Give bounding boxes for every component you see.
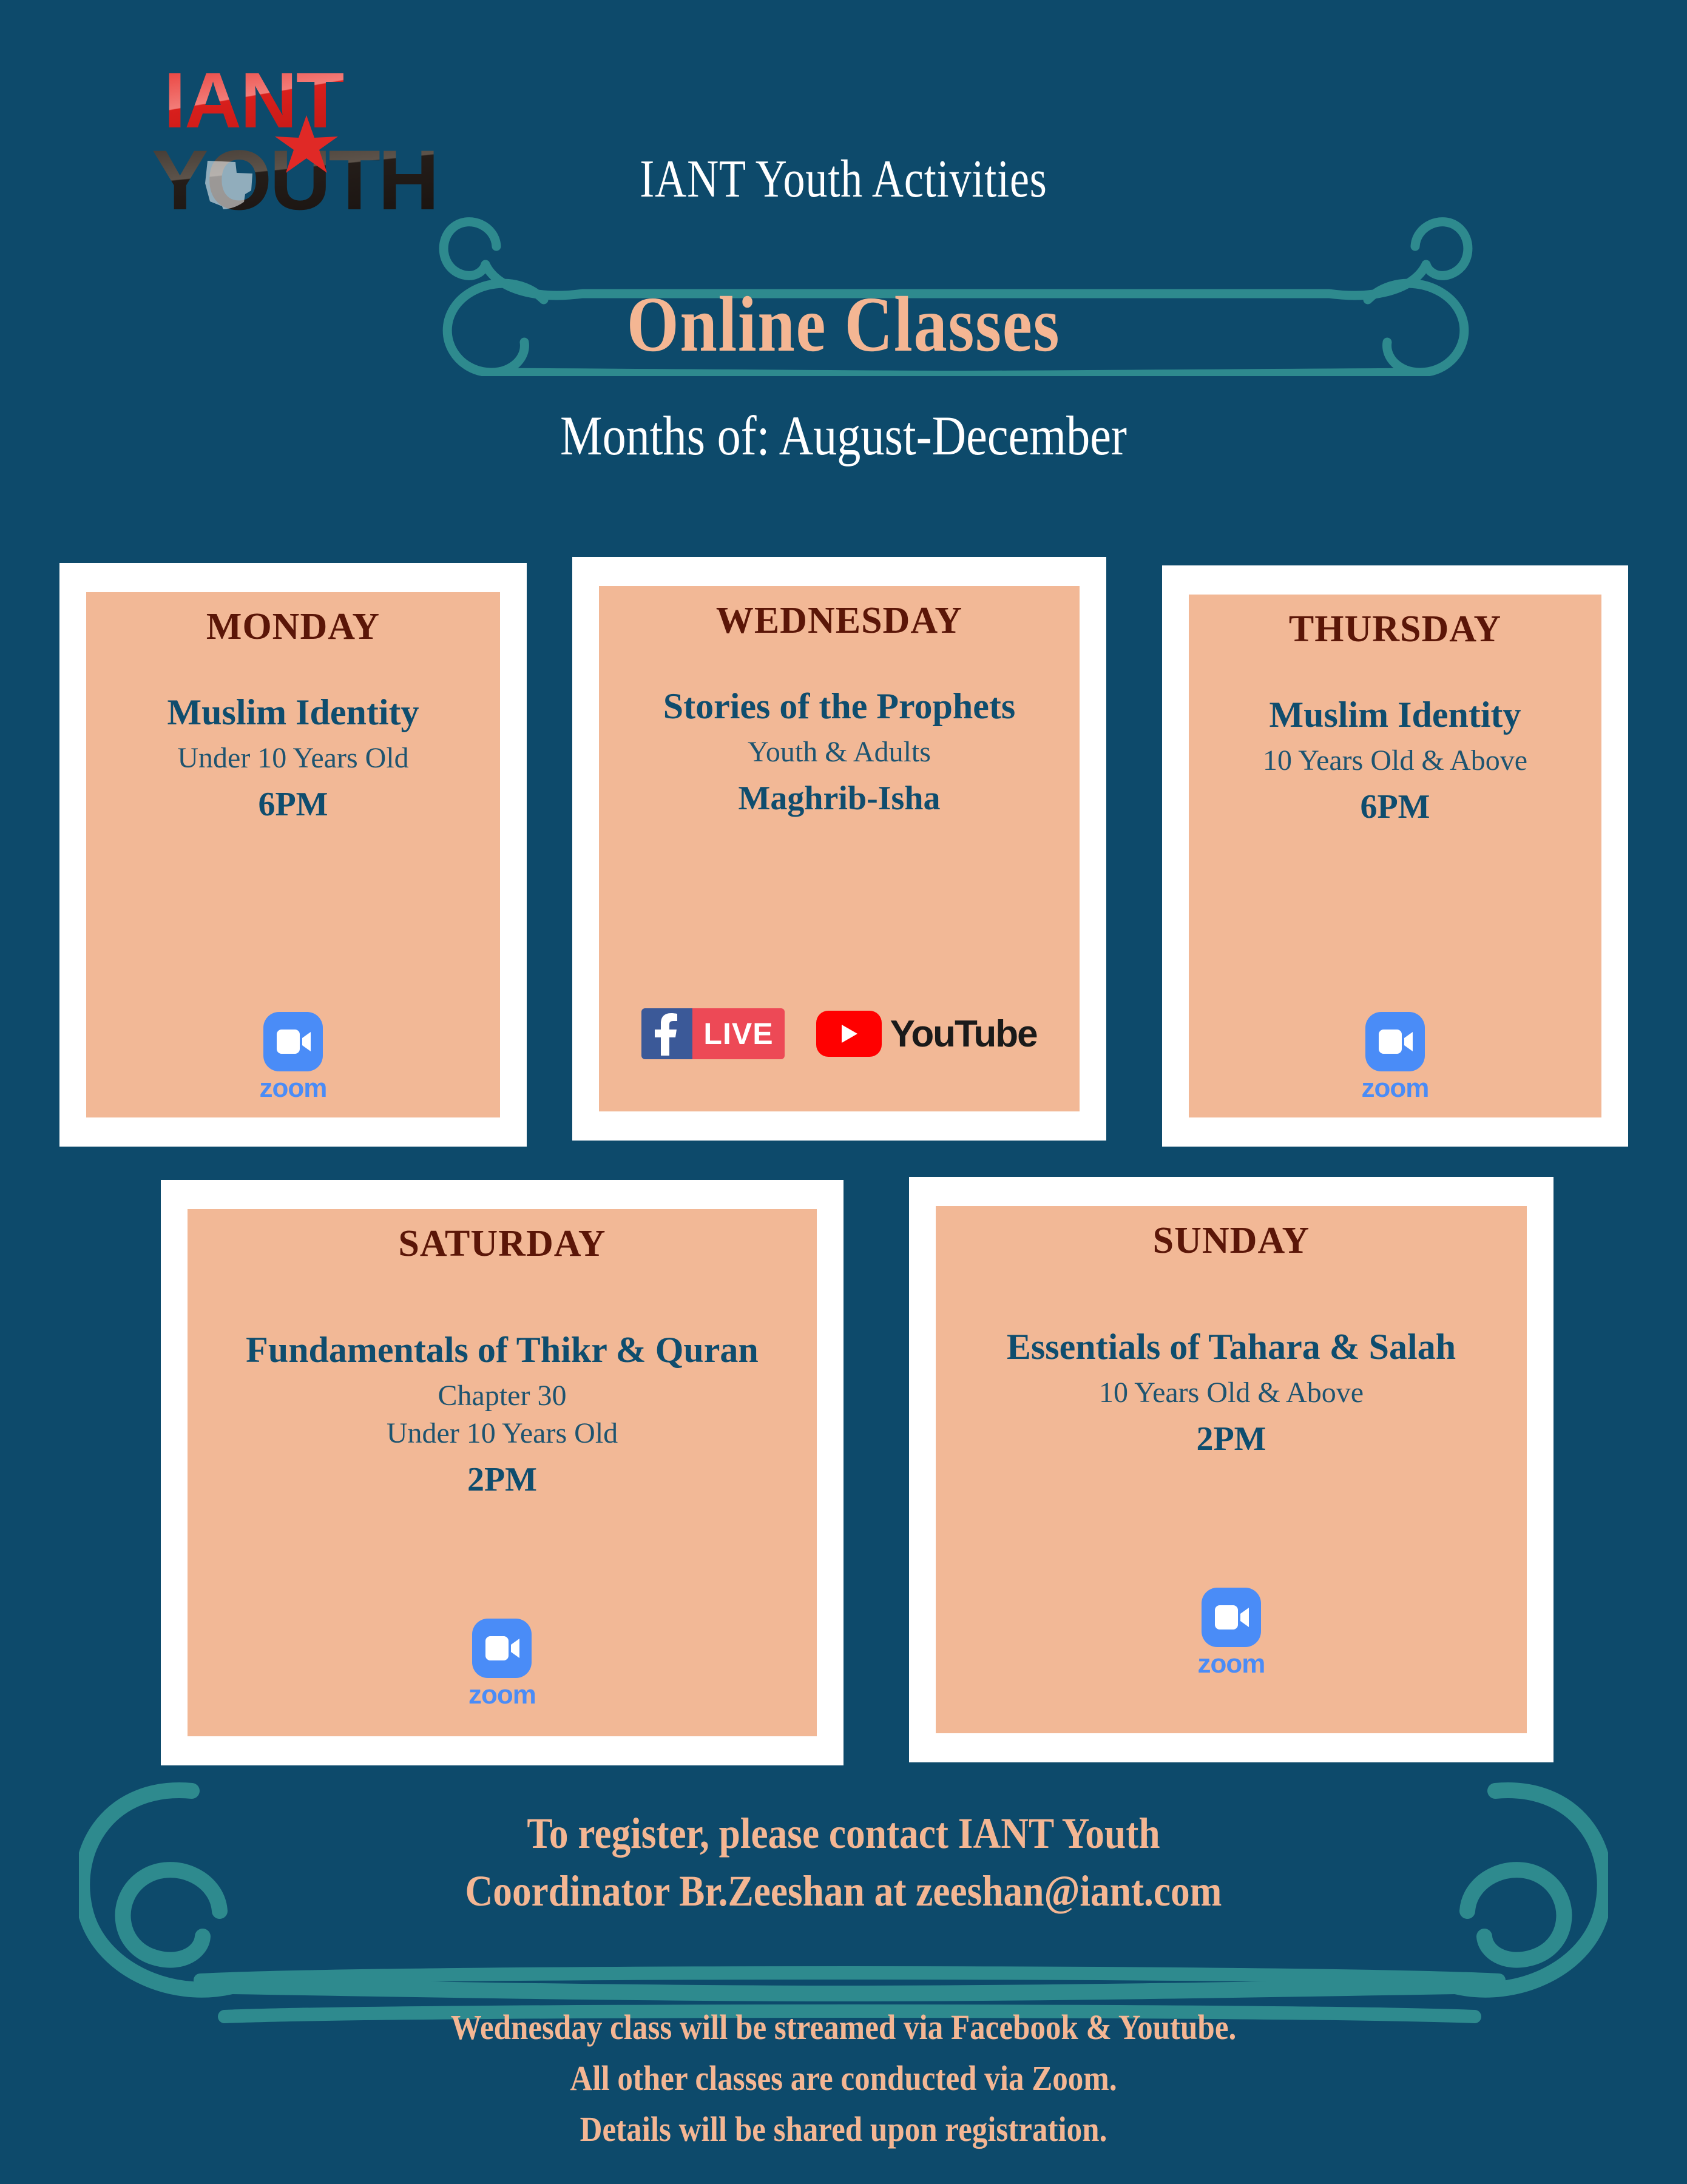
logo-iant-text: IANT <box>164 58 344 144</box>
class-card-monday: MONDAY Muslim Identity Under 10 Years Ol… <box>59 563 527 1147</box>
zoom-logo[interactable]: zoom <box>1362 1012 1429 1102</box>
facebook-icon <box>641 1008 692 1059</box>
zoom-camera-icon <box>1202 1588 1261 1647</box>
class-card-thursday: THURSDAY Muslim Identity 10 Years Old & … <box>1162 565 1628 1147</box>
card-time: 2PM <box>467 1460 537 1499</box>
card-media-row: zoom <box>1198 1588 1265 1677</box>
card-chapter: Chapter 30 <box>438 1378 567 1414</box>
card-class-title: Stories of the Prophets <box>663 687 1016 726</box>
card-media-row: zoom <box>260 1012 327 1102</box>
note-line-2: All other classes are conducted via Zoom… <box>101 2053 1586 2104</box>
card-time: 2PM <box>1196 1420 1266 1458</box>
note-line-3: Details will be shared upon registration… <box>101 2104 1586 2155</box>
class-card-wednesday: WEDNESDAY Stories of the Prophets Youth … <box>572 557 1106 1141</box>
zoom-wordmark: zoom <box>468 1682 536 1708</box>
card-audience: Under 10 Years Old <box>177 740 408 777</box>
youtube-logo[interactable]: YouTube <box>816 1011 1037 1057</box>
registration-info: To register, please contact IANT Youth C… <box>101 1805 1586 1920</box>
class-card-saturday: SATURDAY Fundamentals of Thikr & Quran C… <box>161 1180 843 1765</box>
note-line-1: Wednesday class will be streamed via Fac… <box>101 2002 1586 2053</box>
card-audience: 10 Years Old & Above <box>1099 1375 1364 1411</box>
card-time: 6PM <box>1360 787 1430 826</box>
months-subtitle: Months of: August-December <box>127 403 1561 468</box>
youtube-wordmark: YouTube <box>890 1013 1037 1056</box>
zoom-wordmark: zoom <box>1198 1651 1265 1677</box>
register-line-2: Coordinator Br.Zeeshan at zeeshan@iant.c… <box>101 1862 1586 1920</box>
facebook-live-logo[interactable]: LIVE <box>641 1008 784 1059</box>
org-title: IANT Youth Activities <box>152 149 1535 210</box>
card-media-row: zoom <box>1362 1012 1429 1102</box>
card-audience: 10 Years Old & Above <box>1263 743 1527 779</box>
card-class-title: Essentials of Tahara & Salah <box>1007 1328 1456 1366</box>
card-audience: Youth & Adults <box>748 734 931 770</box>
card-time: Maghrib-Isha <box>739 779 941 818</box>
live-badge: LIVE <box>692 1008 784 1059</box>
card-day-label: WEDNESDAY <box>716 599 962 642</box>
page-title: Online Classes <box>127 279 1561 370</box>
card-time: 6PM <box>258 785 328 824</box>
zoom-logo[interactable]: zoom <box>260 1012 327 1102</box>
zoom-logo[interactable]: zoom <box>1198 1588 1265 1677</box>
card-media-row: zoom <box>468 1619 536 1708</box>
card-day-label: SUNDAY <box>1153 1219 1310 1262</box>
card-class-title: Fundamentals of Thikr & Quran <box>246 1331 759 1369</box>
footer-note: Wednesday class will be streamed via Fac… <box>101 2002 1586 2155</box>
card-class-title: Muslim Identity <box>1269 696 1521 734</box>
zoom-logo[interactable]: zoom <box>468 1619 536 1708</box>
card-media-row: LIVE YouTube <box>641 1008 1036 1059</box>
zoom-camera-icon <box>263 1012 323 1071</box>
card-day-label: MONDAY <box>206 605 380 649</box>
youtube-play-icon <box>816 1011 882 1057</box>
register-line-1: To register, please contact IANT Youth <box>101 1805 1586 1862</box>
zoom-camera-icon <box>1365 1012 1425 1071</box>
card-day-label: SATURDAY <box>398 1222 606 1266</box>
card-class-title: Muslim Identity <box>167 693 419 732</box>
card-audience: Under 10 Years Old <box>387 1415 618 1452</box>
zoom-wordmark: zoom <box>1362 1075 1429 1102</box>
class-card-sunday: SUNDAY Essentials of Tahara & Salah 10 Y… <box>909 1177 1553 1762</box>
zoom-camera-icon <box>472 1619 532 1678</box>
card-day-label: THURSDAY <box>1289 608 1501 651</box>
zoom-wordmark: zoom <box>260 1075 327 1102</box>
